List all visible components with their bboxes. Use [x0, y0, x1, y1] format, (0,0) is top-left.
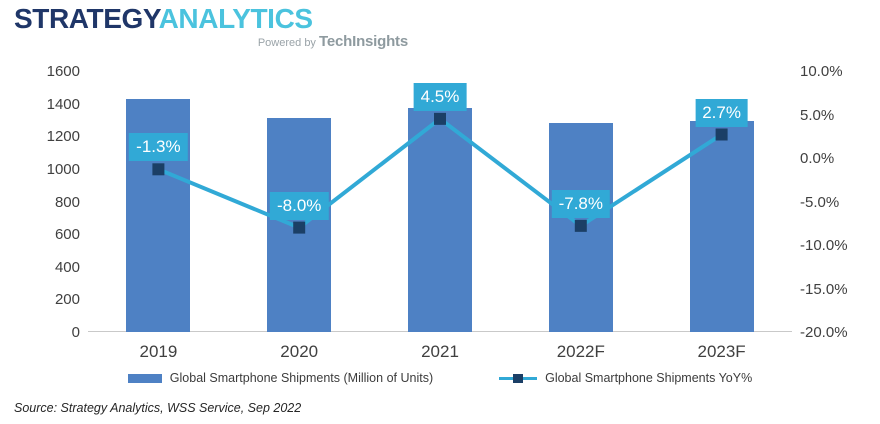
strategy-analytics-logo: STRATEGYANALYTICS Powered by TechInsight… — [14, 4, 414, 56]
legend-label-yoy: Global Smartphone Shipments YoY% — [545, 371, 752, 385]
source-note: Source: Strategy Analytics, WSS Service,… — [14, 401, 301, 416]
y-tick-left: 1000 — [47, 162, 80, 177]
y-tick-right: -15.0% — [800, 282, 848, 297]
y-tick-left: 1200 — [47, 129, 80, 144]
data-label-2022F: -7.8% — [552, 190, 610, 218]
logo-powered-label: Powered by — [258, 37, 319, 49]
y-tick-left: 1600 — [47, 64, 80, 79]
legend-item-yoy[interactable]: Global Smartphone Shipments YoY% — [499, 371, 752, 385]
data-label-2023F: 2.7% — [695, 99, 748, 127]
y-tick-right: -5.0% — [800, 195, 839, 210]
x-label-2023F: 2023F — [651, 343, 792, 361]
y-tick-left: 600 — [55, 227, 80, 242]
logo-powered-by: Powered by TechInsights — [258, 34, 408, 51]
logo-wordmark: STRATEGYANALYTICS — [14, 4, 414, 34]
x-label-2021: 2021 — [370, 343, 511, 361]
x-label-2022F: 2022F — [510, 343, 651, 361]
data-label-2019: -1.3% — [129, 133, 187, 161]
yoy-marker-2019 — [152, 163, 164, 175]
y-tick-right: 10.0% — [800, 64, 843, 79]
yoy-marker-2020 — [293, 222, 305, 234]
logo-word-analytics: ANALYTICS — [159, 3, 313, 34]
y-tick-right: 5.0% — [800, 108, 834, 123]
legend-label-shipments: Global Smartphone Shipments (Million of … — [170, 371, 433, 385]
chart-screenshot: STRATEGYANALYTICS Powered by TechInsight… — [0, 0, 880, 424]
logo-word-strategy: STRATEGY — [14, 3, 159, 34]
data-label-2021: 4.5% — [414, 83, 467, 111]
yoy-line-path — [158, 119, 721, 228]
yoy-marker-2023F — [716, 129, 728, 141]
y-tick-right: -20.0% — [800, 325, 848, 340]
y-tick-left: 200 — [55, 292, 80, 307]
chart-legend: Global Smartphone Shipments (Million of … — [0, 371, 880, 385]
y-tick-left: 800 — [55, 195, 80, 210]
plot-area: 02004006008001000120014001600 -20.0%-15.… — [88, 71, 792, 332]
legend-item-shipments[interactable]: Global Smartphone Shipments (Million of … — [128, 371, 433, 385]
y-tick-right: -10.0% — [800, 238, 848, 253]
x-label-2019: 2019 — [88, 343, 229, 361]
y-tick-left: 400 — [55, 260, 80, 275]
logo-techinsights-label: TechInsights — [319, 33, 408, 50]
x-label-2020: 2020 — [229, 343, 370, 361]
y-tick-left: 0 — [72, 325, 80, 340]
y-tick-right: 0.0% — [800, 151, 834, 166]
line-marker-swatch-icon — [499, 373, 537, 383]
bar-swatch-icon — [128, 374, 162, 383]
data-label-2020: -8.0% — [270, 192, 328, 220]
yoy-marker-2022F — [575, 220, 587, 232]
y-tick-left: 1400 — [47, 97, 80, 112]
yoy-marker-2021 — [434, 113, 446, 125]
